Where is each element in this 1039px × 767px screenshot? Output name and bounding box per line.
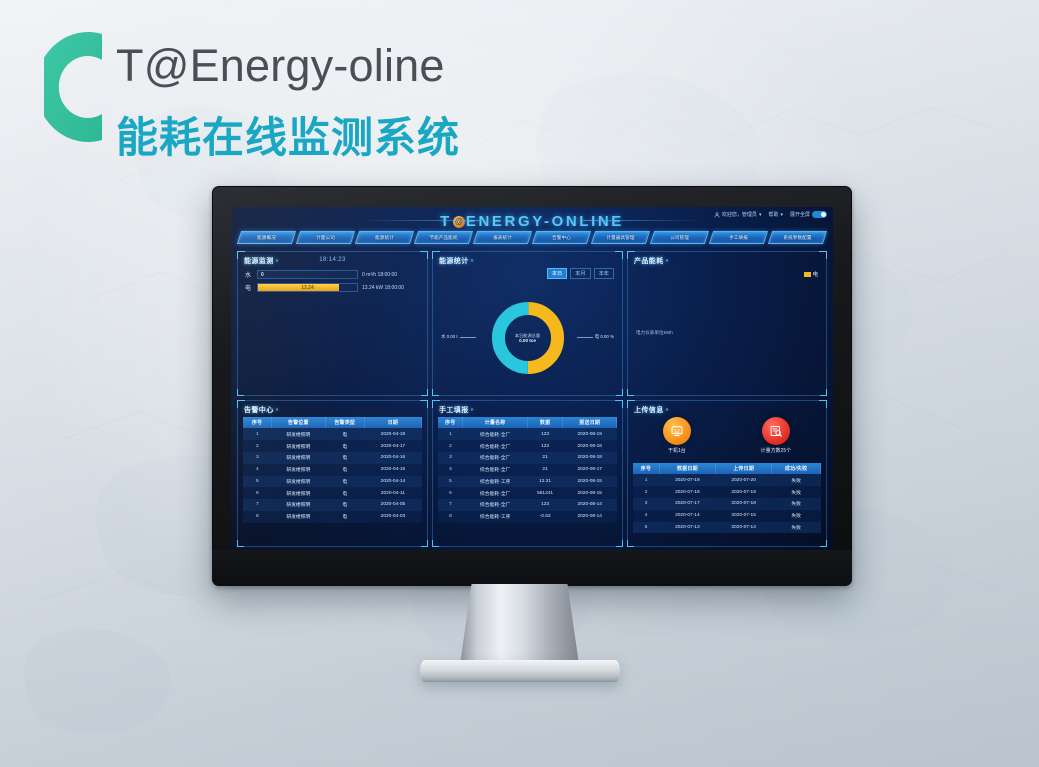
monitor-stand-neck — [460, 584, 580, 668]
toggle-on-icon[interactable] — [812, 211, 827, 218]
table-cell: 电 — [325, 452, 364, 464]
user-name: 欢迎您，管理员 — [722, 211, 757, 218]
nav-label: 计量器具管理 — [594, 232, 647, 243]
table-cell: -0.53 — [527, 511, 563, 523]
table-header-row: 序号告警位置告警类型日期 — [243, 417, 422, 428]
table-cell: 研发楼照明 — [272, 511, 326, 523]
table-cell: 综合能耗-全厂 — [463, 452, 527, 464]
tab-month[interactable]: 本月 — [570, 268, 590, 279]
table-cell: 123 — [527, 499, 563, 511]
table-cell: 2 — [438, 440, 463, 452]
table-cell: 2020-04-18 — [364, 428, 421, 440]
energy-bar-value: 13.24 — [258, 284, 357, 291]
table-cell: 研发楼照明 — [272, 499, 326, 511]
table-cell: 2020-04-15 — [364, 464, 421, 476]
column-header: 计量名称 — [463, 417, 527, 428]
badge-devices[interactable]: 干机1台 — [663, 417, 691, 454]
column-header: 上传日期 — [716, 463, 772, 474]
table-cell: 2020-07-14 — [659, 510, 715, 522]
nav-label: 告警中心 — [535, 232, 588, 243]
panel-title-text: 能源统计 — [439, 256, 469, 266]
table-cell: 电 — [325, 487, 364, 499]
table-row[interactable]: 5综合能耗-工序12.212020-08-15 — [438, 476, 617, 488]
table-cell: 8 — [438, 511, 463, 523]
table-cell: 1 — [633, 474, 659, 486]
nav-item-2[interactable]: 能源统计 — [355, 231, 414, 244]
nav-label: 手工填报 — [712, 232, 765, 243]
panel-title-text: 产品能耗 — [634, 256, 664, 266]
table-cell: 失败 — [772, 498, 821, 510]
table-cell: 4 — [243, 464, 272, 476]
panel-title-manual-entry: 手工填报 » — [439, 405, 474, 415]
table-row[interactable]: 8综合能耗-工序-0.532020-08-14 — [438, 511, 617, 523]
page-title: T@Energy-oline — [116, 40, 445, 92]
panel-manual-entry: 手工填报 » 序号计量名称数据报送日期 1综合能耗-全厂1232020-08-1… — [432, 400, 623, 547]
panel-alarm-center: 告警中心 » 序号告警位置告警类型日期 1研发楼照明电2020-04-182研发… — [237, 400, 428, 547]
table-row[interactable]: 3综合能耗-全厂212020-08-18 — [438, 452, 617, 464]
nav-item-6[interactable]: 计量器具管理 — [591, 231, 650, 244]
table-row[interactable]: 1研发楼照明电2020-04-18 — [243, 428, 422, 440]
column-header: 数据日期 — [659, 463, 715, 474]
table-cell: 6 — [243, 487, 272, 499]
donut-center-value: 0.00 tce — [515, 338, 540, 344]
table-row[interactable]: 2综合能耗-全厂1232020-08-18 — [438, 440, 617, 452]
table-cell: 2020-07-19 — [716, 486, 772, 498]
table-cell: 3 — [633, 498, 659, 510]
manual-entry-table: 序号计量名称数据报送日期 1综合能耗-全厂1232020-08-192综合能耗-… — [438, 417, 617, 523]
panel-energy-stats: 能源统计 » 本日 本月 本年 本日能源总量 0.00 tce 水 0.00 — [432, 251, 623, 396]
donut-leader-right: 电 0.00 % — [577, 334, 614, 340]
table-row[interactable]: 4研发楼照明电2020-04-15 — [243, 464, 422, 476]
monitor-chin — [212, 550, 852, 586]
table-cell: 3 — [438, 452, 463, 464]
table-cell: 7 — [438, 499, 463, 511]
donut-center-title: 本日能源总量 — [515, 333, 540, 338]
table-cell: 2020-08-15 — [563, 487, 617, 499]
table-cell: 失败 — [772, 474, 821, 486]
panel-title-text: 手工填报 — [439, 405, 469, 415]
energy-row-label: 电 — [245, 283, 257, 292]
table-cell: 2020-07-15 — [716, 510, 772, 522]
table-cell: 综合能耗-工序 — [463, 511, 527, 523]
table-row[interactable]: 4综合能耗-全厂212020-08-17 — [438, 464, 617, 476]
table-cell: 3 — [243, 452, 272, 464]
table-cell: 2020-07-18 — [716, 498, 772, 510]
nav-label: 计量公司 — [299, 232, 352, 243]
table-cell: 电 — [325, 428, 364, 440]
chevron-down-icon: ▾ — [759, 212, 762, 218]
panel-title-product-energy: 产品能耗 » — [634, 256, 669, 266]
donut-leader-right-text: 电 0.00 % — [595, 334, 614, 340]
table-cell: 研发楼照明 — [272, 464, 326, 476]
product-energy-note: 电力仪表单位kWh — [636, 330, 673, 336]
table-row[interactable]: 8研发楼照明电2020-04-03 — [243, 511, 422, 523]
monitor-mockup: T@ENERGY-ONLINE 欢迎您，管理员 ▾ 帮助 ▾ 展开全屏 能源概况… — [212, 186, 852, 586]
column-header: 序号 — [633, 463, 659, 474]
tab-year[interactable]: 本年 — [594, 268, 614, 279]
table-cell: 综合能耗-全厂 — [463, 464, 527, 476]
nav-label: 能源统计 — [358, 232, 411, 243]
nav-label: 报表统计 — [476, 232, 529, 243]
table-row[interactable]: 6综合能耗-全厂5612412020-08-15 — [438, 487, 617, 499]
table-cell: 2020-07-17 — [659, 498, 715, 510]
table-cell: 2020-04-05 — [364, 499, 421, 511]
table-cell: 6 — [438, 487, 463, 499]
user-toolbar: 欢迎您，管理员 ▾ 帮助 ▾ 展开全屏 — [714, 211, 827, 218]
donut-leader-left: 水 0.00 t — [441, 334, 476, 340]
dashboard-screen: T@ENERGY-ONLINE 欢迎您，管理员 ▾ 帮助 ▾ 展开全屏 能源概况… — [231, 207, 833, 550]
table-cell: 5 — [438, 476, 463, 488]
table-cell: 2020-07-18 — [659, 486, 715, 498]
nav-item-4[interactable]: 报表统计 — [473, 231, 532, 244]
table-cell: 2020-08-14 — [563, 511, 617, 523]
table-row[interactable]: 32020-07-172020-07-18失败 — [633, 498, 821, 510]
badge-caption: 计量方数25个 — [761, 447, 792, 454]
table-row[interactable]: 2研发楼照明电2020-04-17 — [243, 440, 422, 452]
badge-caption: 干机1台 — [663, 447, 691, 454]
monitor-stand-base — [420, 660, 620, 682]
panel-title-alarm-center: 告警中心 » — [244, 405, 279, 415]
nav-label: 节能产品能耗 — [417, 232, 470, 243]
nav-item-3[interactable]: 节能产品能耗 — [414, 231, 473, 244]
legend-label: 电 — [813, 270, 818, 278]
table-cell: 2 — [633, 486, 659, 498]
table-cell: 2020-07-20 — [716, 474, 772, 486]
chevron-down-icon: ▾ — [780, 212, 783, 218]
table-cell: 561241 — [527, 487, 563, 499]
legend-swatch-icon — [804, 272, 811, 277]
panel-title-upload-info: 上传信息 » — [634, 405, 669, 415]
clock-display: 18:14:23 — [238, 257, 427, 263]
table-cell: 1 — [438, 428, 463, 440]
table-cell: 21 — [527, 452, 563, 464]
table-cell: 21 — [527, 464, 563, 476]
table-cell: 失败 — [772, 510, 821, 522]
title-rule-right — [583, 220, 703, 221]
energy-bar-track: 13.24 — [257, 283, 358, 292]
table-row[interactable]: 12020-07-192020-07-20失败 — [633, 474, 821, 486]
table-cell: 2020-08-18 — [563, 440, 617, 452]
user-icon — [714, 212, 720, 218]
donut-leader-left-text: 水 0.00 t — [441, 334, 458, 340]
table-cell: 综合能耗-全厂 — [463, 428, 527, 440]
table-cell: 5 — [633, 522, 659, 534]
period-tabs: 本日 本月 本年 — [547, 268, 614, 279]
panel-energy-monitor: 能源监测 » 18:14:23 水 0 0 m³/h 18:00:00 电 13… — [237, 251, 428, 396]
nav-label: 公司管理 — [653, 232, 706, 243]
help-menu[interactable]: 帮助 ▾ — [768, 211, 783, 218]
table-cell: 综合能耗-全厂 — [463, 440, 527, 452]
column-header: 告警位置 — [272, 417, 326, 428]
nav-label: 系统参数配置 — [771, 232, 824, 243]
table-cell: 2020-04-17 — [364, 440, 421, 452]
page-subtitle: 能耗在线监测系统 — [116, 104, 460, 165]
table-cell: 2020-04-03 — [364, 511, 421, 523]
panel-title-energy-stats: 能源统计 » — [439, 256, 474, 266]
table-cell: 失败 — [772, 522, 821, 534]
table-cell: 2 — [243, 440, 272, 452]
nav-item-1[interactable]: 计量公司 — [296, 231, 355, 244]
table-cell: 失败 — [772, 486, 821, 498]
alarm-table: 序号告警位置告警类型日期 1研发楼照明电2020-04-182研发楼照明电202… — [243, 417, 422, 523]
chevron-right-icon[interactable]: » — [666, 258, 669, 264]
nav-item-9[interactable]: 系统参数配置 — [768, 231, 827, 244]
table-cell: 2020-08-14 — [563, 499, 617, 511]
energy-bar-value: 0 — [258, 271, 357, 278]
table-row[interactable]: 3研发楼照明电2020-04-16 — [243, 452, 422, 464]
energy-row-label: 水 — [245, 270, 257, 279]
table-cell: 电 — [325, 511, 364, 523]
table-row[interactable]: 42020-07-142020-07-15失败 — [633, 510, 821, 522]
table-cell: 2020-04-11 — [364, 487, 421, 499]
chevron-right-icon[interactable]: » — [666, 407, 669, 413]
chevron-right-icon[interactable]: » — [471, 258, 474, 264]
main-nav: 能源概况 计量公司 能源统计 节能产品能耗 报表统计 告警中心 计量器具管理 公… — [239, 231, 825, 244]
table-cell: 研发楼照明 — [272, 428, 326, 440]
table-cell: 8 — [243, 511, 272, 523]
table-cell: 研发楼照明 — [272, 487, 326, 499]
table-cell: 2020-07-13 — [659, 522, 715, 534]
table-row[interactable]: 7研发楼照明电2020-04-05 — [243, 499, 422, 511]
table-cell: 电 — [325, 499, 364, 511]
user-menu[interactable]: 欢迎您，管理员 ▾ — [714, 211, 762, 218]
badge-meters[interactable]: 计量方数25个 — [761, 417, 792, 454]
help-label: 帮助 — [768, 211, 778, 218]
table-cell: 综合能耗-全厂 — [463, 499, 527, 511]
webcam-icon — [530, 192, 534, 196]
table-row[interactable]: 7综合能耗-全厂1232020-08-14 — [438, 499, 617, 511]
table-cell: 2020-08-19 — [563, 428, 617, 440]
server-icon — [663, 417, 691, 445]
table-cell: 4 — [438, 464, 463, 476]
flame-at-icon: @ — [453, 216, 465, 228]
energy-row-electric: 电 13.24 13.24 kW 18:00:00 — [245, 283, 420, 292]
column-header: 日期 — [364, 417, 421, 428]
report-search-icon — [762, 417, 790, 445]
table-cell: 1 — [243, 428, 272, 440]
upload-badges: 干机1台 计量方数25个 — [628, 417, 826, 454]
upload-table: 序号数据日期上传日期成功/失败 12020-07-192020-07-20失败2… — [633, 463, 821, 533]
column-header: 序号 — [243, 417, 272, 428]
c-mark-logo-icon — [44, 28, 106, 146]
table-row[interactable]: 6研发楼照明电2020-04-11 — [243, 487, 422, 499]
app-title-right: ENERGY-ONLINE — [466, 213, 624, 230]
table-row[interactable]: 52020-07-132020-07-14失败 — [633, 522, 821, 534]
table-cell: 12.21 — [527, 476, 563, 488]
table-cell: 2020-04-14 — [364, 476, 421, 488]
energy-row-water: 水 0 0 m³/h 18:00:00 — [245, 270, 420, 279]
table-row[interactable]: 1综合能耗-全厂1232020-08-19 — [438, 428, 617, 440]
tab-today[interactable]: 本日 — [547, 268, 567, 279]
table-cell: 研发楼照明 — [272, 440, 326, 452]
column-header: 成功/失败 — [772, 463, 821, 474]
table-cell: 综合能耗-工序 — [463, 476, 527, 488]
app-title-left: T — [440, 213, 452, 230]
energy-row-meta: 0 m³/h 18:00:00 — [358, 272, 420, 278]
column-header: 序号 — [438, 417, 463, 428]
table-cell: 电 — [325, 464, 364, 476]
nav-item-0[interactable]: 能源概况 — [237, 231, 296, 244]
panel-upload-info: 上传信息 » 干机1台 计量方数25个 序号数据日期上传 — [627, 400, 827, 547]
table-row[interactable]: 5研发楼照明电2020-04-14 — [243, 476, 422, 488]
table-cell: 2020-08-17 — [563, 464, 617, 476]
table-cell: 电 — [325, 476, 364, 488]
donut-center-label: 本日能源总量 0.00 tce — [515, 333, 540, 344]
nav-item-7[interactable]: 公司管理 — [650, 231, 709, 244]
table-cell: 2020-04-16 — [364, 452, 421, 464]
fullscreen-toggle[interactable]: 展开全屏 — [790, 211, 827, 218]
table-cell: 研发楼照明 — [272, 476, 326, 488]
table-cell: 综合能耗-全厂 — [463, 487, 527, 499]
nav-item-8[interactable]: 手工填报 — [709, 231, 768, 244]
title-rule-left — [361, 220, 481, 221]
brand-header: T@Energy-oline 能耗在线监测系统 — [44, 22, 564, 154]
column-header: 报送日期 — [563, 417, 617, 428]
table-cell: 123 — [527, 428, 563, 440]
table-cell: 123 — [527, 440, 563, 452]
column-header: 数据 — [527, 417, 563, 428]
nav-item-5[interactable]: 告警中心 — [532, 231, 591, 244]
chevron-right-icon[interactable]: » — [276, 407, 279, 413]
column-header: 告警类型 — [325, 417, 364, 428]
table-cell: 7 — [243, 499, 272, 511]
legend-electric: 电 — [804, 270, 818, 278]
table-cell: 研发楼照明 — [272, 452, 326, 464]
table-cell: 2020-07-19 — [659, 474, 715, 486]
table-cell: 电 — [325, 440, 364, 452]
panel-title-text: 告警中心 — [244, 405, 274, 415]
table-cell: 4 — [633, 510, 659, 522]
panel-product-energy: 产品能耗 » 电 电力仪表单位kWh — [627, 251, 827, 396]
table-cell: 5 — [243, 476, 272, 488]
table-row[interactable]: 22020-07-182020-07-19失败 — [633, 486, 821, 498]
table-cell: 2020-08-18 — [563, 452, 617, 464]
panel-title-text: 上传信息 — [634, 405, 664, 415]
table-cell: 2020-08-15 — [563, 476, 617, 488]
energy-bar-track: 0 — [257, 270, 358, 279]
nav-label: 能源概况 — [240, 232, 293, 243]
table-header-row: 序号计量名称数据报送日期 — [438, 417, 617, 428]
fullscreen-label: 展开全屏 — [790, 211, 810, 218]
table-header-row: 序号数据日期上传日期成功/失败 — [633, 463, 821, 474]
energy-row-meta: 13.24 kW 18:00:00 — [358, 285, 420, 291]
table-cell: 2020-07-14 — [716, 522, 772, 534]
chevron-right-icon[interactable]: » — [471, 407, 474, 413]
